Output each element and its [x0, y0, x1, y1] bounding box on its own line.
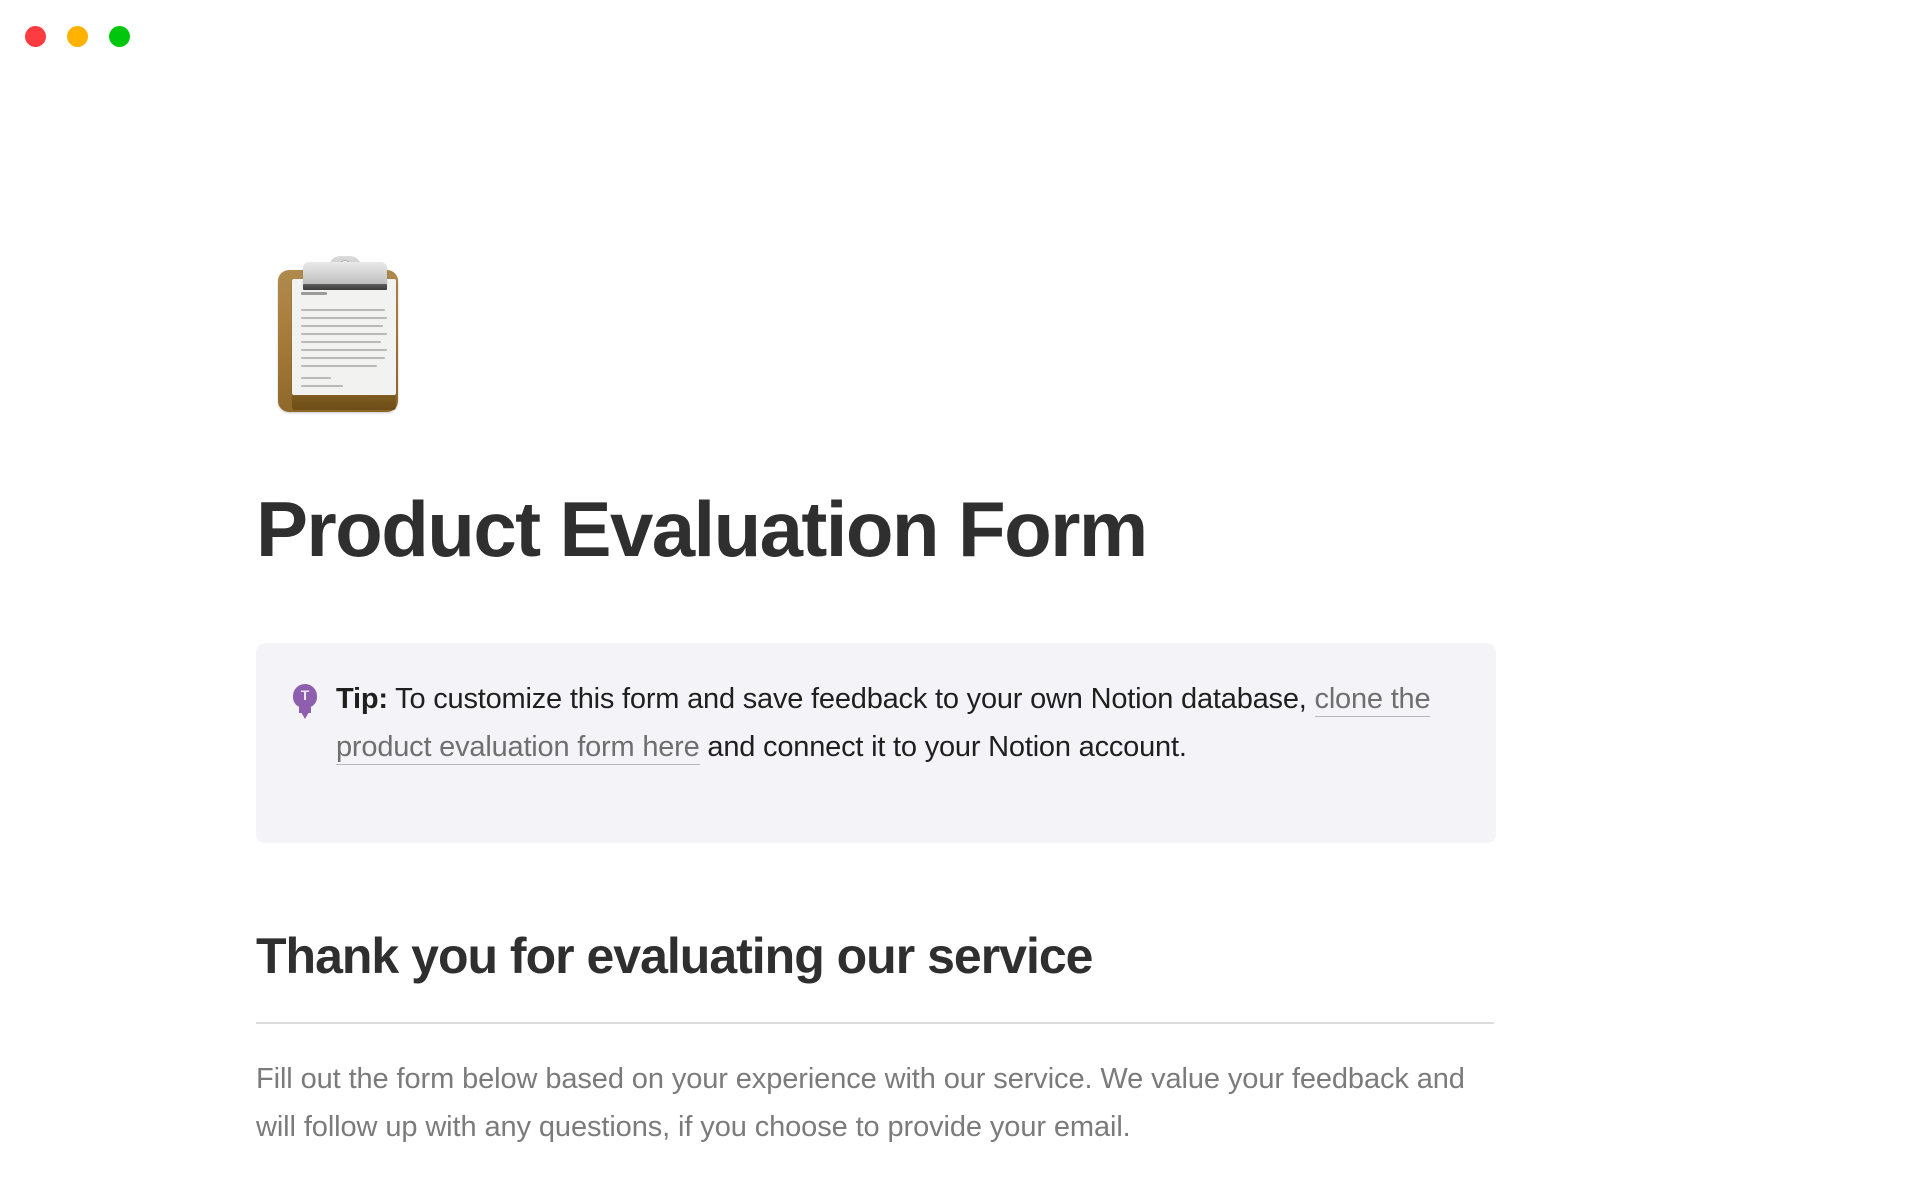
section-heading[interactable]: Thank you for evaluating our service: [256, 927, 1556, 985]
lightbulb-filament: T: [298, 689, 312, 702]
clipboard-icon[interactable]: [272, 256, 404, 414]
paper-line: [301, 333, 387, 335]
tip-text-before-link: To customize this form and save feedback…: [388, 683, 1307, 715]
tip-label: Tip:: [336, 683, 388, 715]
clipboard-bottom-strip: [292, 396, 396, 410]
section-divider: [256, 1022, 1494, 1024]
paper-line: [301, 317, 387, 319]
paper-title-line: [301, 292, 327, 295]
paper-line: [301, 385, 343, 387]
section-body-text[interactable]: Fill out the form below based on your ex…: [256, 1055, 1501, 1151]
paper-line: [301, 325, 383, 327]
paper-line: [301, 357, 385, 359]
paper-line: [301, 309, 385, 311]
lightbulb-tip: [301, 712, 309, 719]
paper-line: [301, 349, 387, 351]
page-title[interactable]: Product Evaluation Form: [256, 485, 1556, 573]
clipboard-clip-bar: [303, 284, 387, 290]
paper-line: [301, 377, 331, 379]
tip-callout-text: Tip: To customize this form and save fee…: [336, 675, 1460, 771]
lightbulb-icon: T: [292, 684, 318, 720]
paper-line: [301, 365, 377, 367]
tip-text-after-link: and connect it to your Notion account.: [700, 731, 1187, 763]
paper-line: [301, 341, 381, 343]
page-content: Product Evaluation Form T Tip: To custom…: [0, 0, 1920, 1200]
tip-callout: T Tip: To customize this form and save f…: [256, 643, 1496, 843]
clipboard-paper: [292, 279, 396, 395]
